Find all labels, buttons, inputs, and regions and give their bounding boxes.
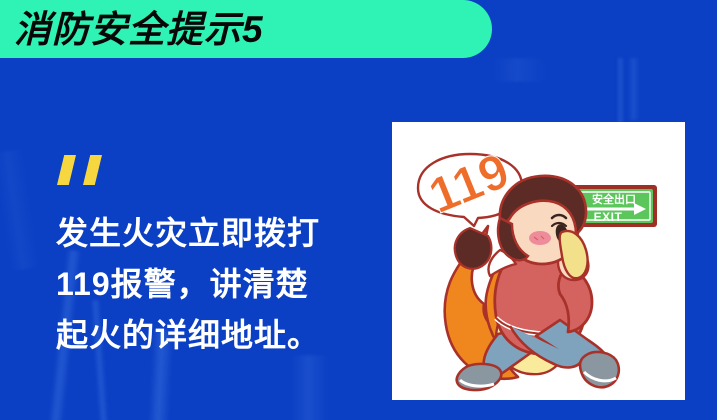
background-wisp: [0, 148, 42, 272]
background-wisp: [628, 58, 640, 120]
poster-root: 消防安全提示5 发生火灾立即拨打 119报警，讲清楚 起火的详细地址。: [0, 0, 717, 420]
illustration-card: 安全出口 EXIT 119: [392, 122, 685, 400]
quote-open-icon: [57, 155, 109, 187]
background-wisp: [490, 58, 550, 82]
shoe-back: [457, 364, 502, 390]
background-wisp: [290, 355, 330, 420]
exit-sign-chinese: 安全出口: [592, 192, 636, 206]
header-banner: 消防安全提示5: [0, 0, 492, 58]
page-title: 消防安全提示5: [14, 11, 264, 48]
headline-line-2: 119报警，讲清楚: [56, 259, 356, 310]
illustration-svg: 安全出口 EXIT 119: [392, 122, 685, 400]
headline-line-1: 发生火灾立即拨打: [56, 208, 356, 259]
shoe-front: [580, 352, 619, 387]
exit-sign-english: EXIT: [594, 210, 623, 224]
headline-line-3: 起火的详细地址。: [56, 310, 356, 361]
quote-glyph-left: [57, 155, 76, 185]
headline-block: 发生火灾立即拨打 119报警，讲清楚 起火的详细地址。: [56, 208, 356, 361]
quote-glyph-right: [83, 155, 102, 185]
blush: [529, 231, 551, 245]
